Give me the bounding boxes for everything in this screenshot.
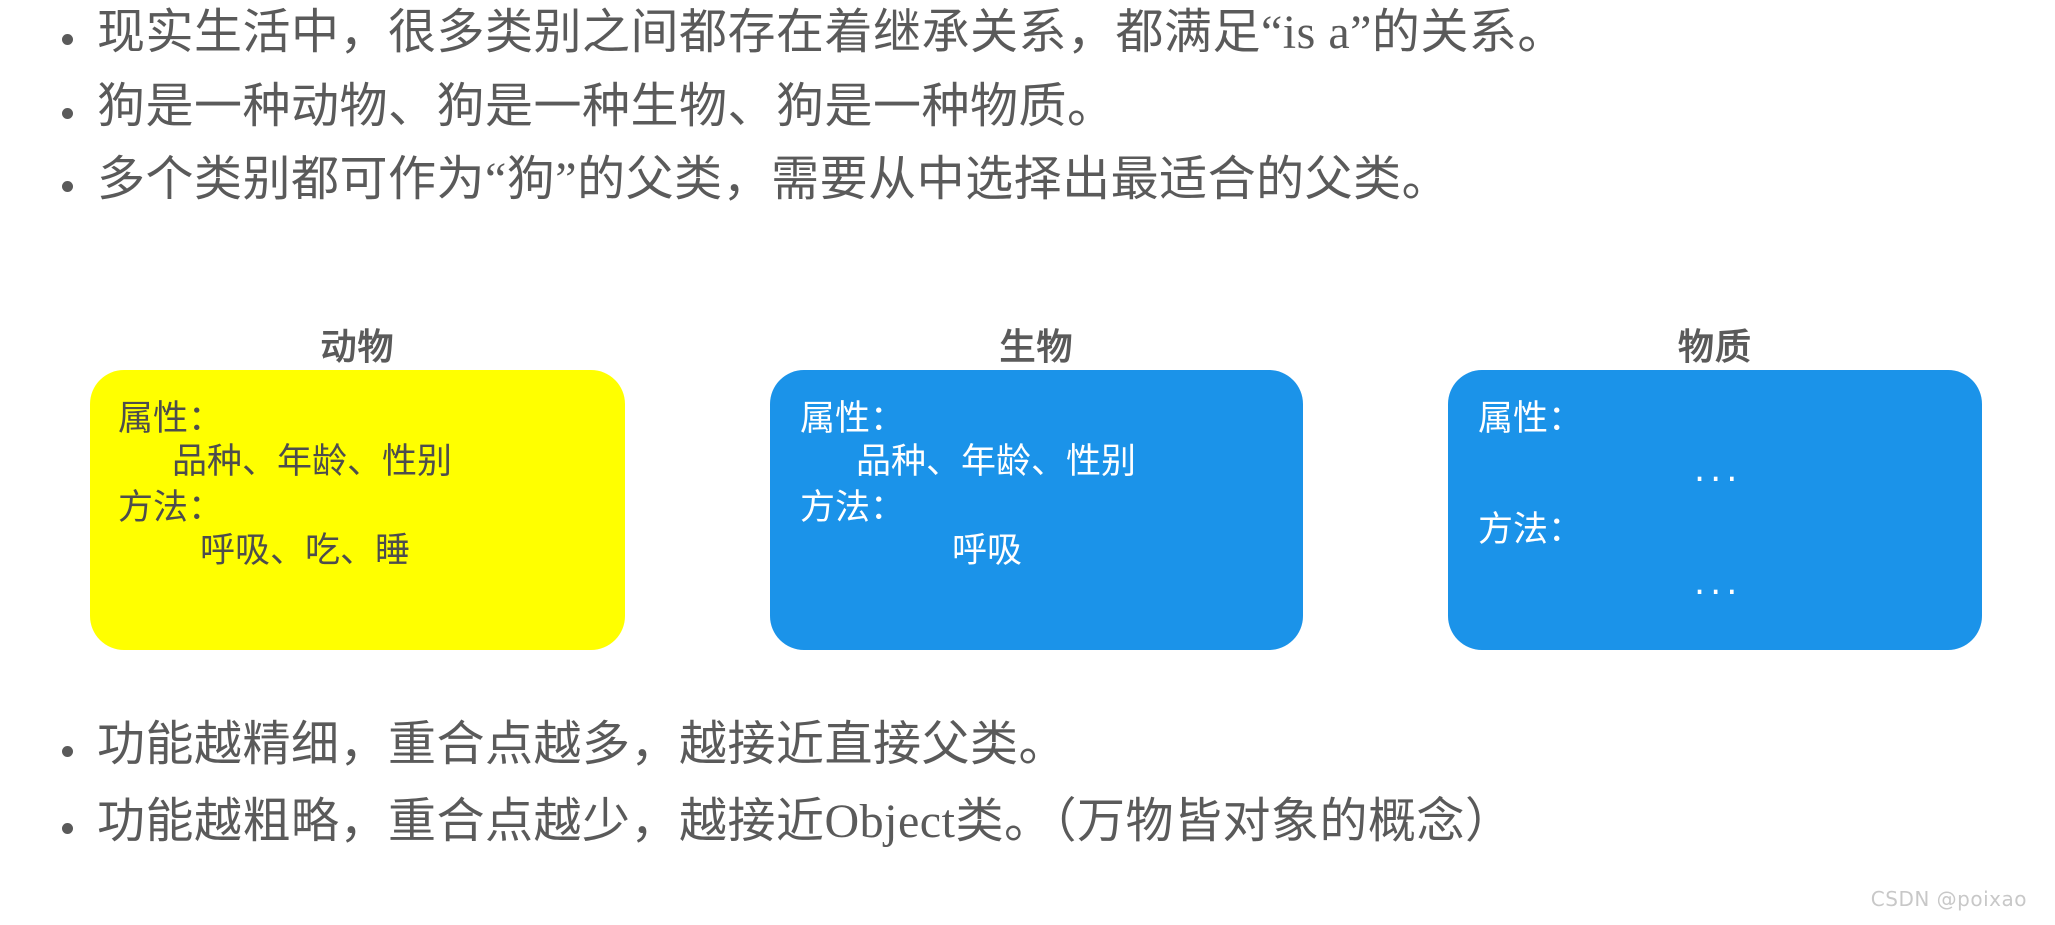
attributes-value: 品种、年龄、性别	[118, 441, 625, 484]
slide-canvas: 现实生活中，很多类别之间都存在着继承关系，都满足“is a”的关系。 狗是一种动…	[0, 0, 2055, 925]
bullet-dot-icon	[62, 746, 73, 757]
watermark-label: CSDN @poixao	[1871, 887, 2027, 911]
bullet-text: 功能越精细，重合点越多，越接近直接父类。	[97, 720, 1067, 770]
methods-value: 呼吸、吃、睡	[118, 530, 625, 573]
bullet-dot-icon	[62, 108, 73, 119]
bullet-dot-icon	[62, 34, 73, 45]
methods-label: 方法：	[118, 487, 625, 530]
class-title: 动物	[90, 318, 625, 370]
bullet-text: 狗是一种动物、狗是一种生物、狗是一种物质。	[97, 82, 1116, 132]
bullet-item: 功能越粗略，重合点越少，越接近Object类。（万物皆对象的概念）	[62, 797, 1513, 847]
class-title: 物质	[1448, 318, 1982, 370]
attributes-value: ...	[1478, 449, 1982, 492]
methods-label: 方法：	[1478, 509, 1982, 552]
attributes-label: 属性：	[1478, 398, 1982, 441]
methods-label: 方法：	[800, 487, 1303, 530]
methods-value: ...	[1478, 562, 1982, 605]
bullet-text: 现实生活中，很多类别之间都存在着继承关系，都满足“is a”的关系。	[97, 8, 1566, 58]
bullet-text: 多个类别都可作为“狗”的父类，需要从中选择出最适合的父类。	[97, 155, 1450, 205]
bullet-item: 功能越精细，重合点越多，越接近直接父类。	[62, 720, 1067, 770]
attributes-label: 属性：	[800, 398, 1303, 441]
class-box: 属性： 品种、年龄、性别 方法： 呼吸、吃、睡	[90, 370, 625, 650]
bullet-item: 多个类别都可作为“狗”的父类，需要从中选择出最适合的父类。	[62, 155, 1450, 205]
bullet-text: 功能越粗略，重合点越少，越接近Object类。（万物皆对象的概念）	[97, 797, 1513, 847]
bullet-item: 狗是一种动物、狗是一种生物、狗是一种物质。	[62, 82, 1116, 132]
bullet-dot-icon	[62, 823, 73, 834]
class-box: 属性： ... 方法： ...	[1448, 370, 1982, 650]
methods-value: 呼吸	[800, 530, 1303, 573]
bullet-dot-icon	[62, 181, 73, 192]
class-title: 生物	[770, 318, 1303, 370]
attributes-label: 属性：	[118, 398, 625, 441]
bullet-item: 现实生活中，很多类别之间都存在着继承关系，都满足“is a”的关系。	[62, 8, 1566, 58]
attributes-value: 品种、年龄、性别	[800, 441, 1303, 484]
class-box: 属性： 品种、年龄、性别 方法： 呼吸	[770, 370, 1303, 650]
